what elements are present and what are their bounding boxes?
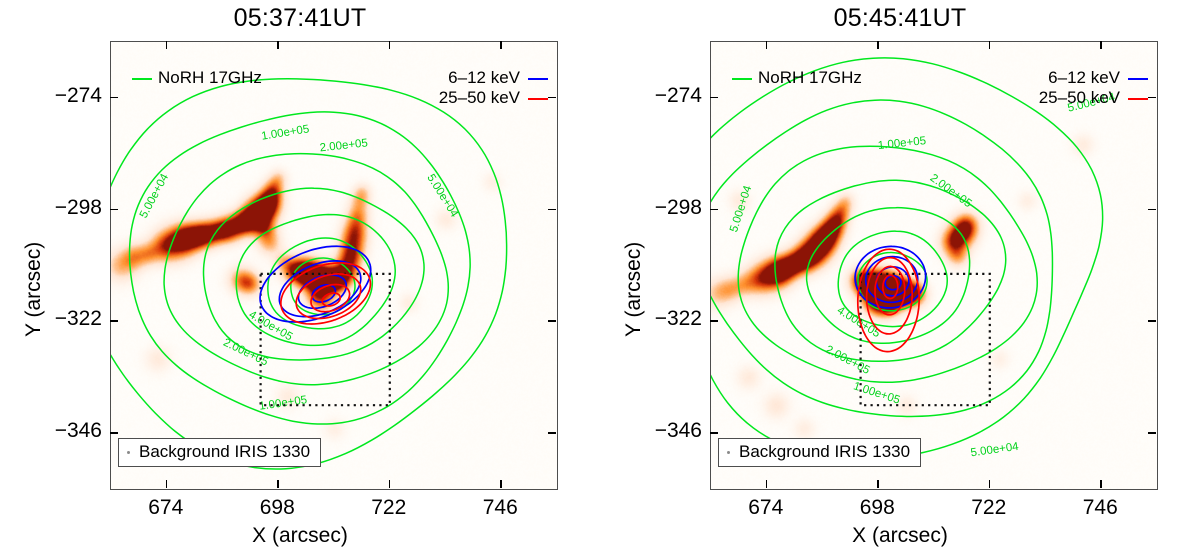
iris-fov-box: [861, 274, 990, 405]
y-tick-label: −346: [24, 419, 102, 443]
y-tick: [548, 432, 556, 433]
x-tick: [277, 480, 278, 488]
x-tick-label: 722: [367, 496, 411, 520]
y-tick-label: −298: [624, 196, 702, 220]
panel-second: 05:45:41UT5.00e+041.00e+052.00e+055.00e+…: [600, 0, 1200, 558]
background-legend-box: Background IRIS 1330: [718, 438, 921, 467]
panel-title: 05:37:41UT: [0, 4, 600, 33]
y-tick: [1148, 320, 1156, 321]
iris-box-marker-icon: [727, 451, 730, 454]
background-legend-label: Background IRIS 1330: [739, 442, 910, 462]
legend-label-norh: NoRH 17GHz: [158, 68, 262, 88]
figure-root: 05:37:41UT5.00e+041.00e+052.00e+055.00e+…: [0, 0, 1200, 558]
legend-swatch-25-50kev: [1128, 98, 1148, 100]
x-tick: [277, 41, 278, 49]
panel-title: 05:45:41UT: [600, 4, 1200, 33]
x-tick-label: 746: [1078, 496, 1122, 520]
y-tick: [1148, 97, 1156, 98]
legend-swatch-6-12kev: [1128, 78, 1148, 80]
y-tick-label: −298: [24, 196, 102, 220]
y-tick: [1148, 432, 1156, 433]
y-tick: [710, 97, 718, 98]
legend-label-norh: NoRH 17GHz: [758, 68, 862, 88]
x-axis-title: X (arcsec): [0, 524, 600, 548]
contour-level-label: 2.00e+05: [319, 137, 368, 154]
y-tick: [548, 97, 556, 98]
contour-level-label: 1.00e+05: [877, 135, 926, 152]
y-tick: [710, 320, 718, 321]
plot-area: 5.00e+041.00e+052.00e+055.00e+044.00e+05…: [710, 41, 1158, 490]
background-legend-label: Background IRIS 1330: [139, 442, 310, 462]
contour-level-label: 1.00e+05: [261, 123, 311, 142]
contour-overlay: 5.00e+041.00e+052.00e+055.00e+044.00e+05…: [111, 42, 557, 489]
x-tick: [989, 480, 990, 488]
legend-label-25-50kev: 25–50 keV: [1010, 88, 1120, 108]
legend-swatch-25-50kev: [528, 98, 548, 100]
legend-label-25-50kev: 25–50 keV: [410, 88, 520, 108]
x-tick: [166, 41, 167, 49]
legend-swatch-norh: [132, 78, 152, 80]
x-tick-label: 746: [478, 496, 522, 520]
x-tick-label: 674: [744, 496, 788, 520]
x-tick: [389, 480, 390, 488]
legend-label-6-12kev: 6–12 keV: [410, 68, 520, 88]
y-tick: [110, 97, 118, 98]
x-tick: [766, 41, 767, 49]
y-axis-title: Y (arcsec): [22, 241, 46, 336]
legend-swatch-6-12kev: [528, 78, 548, 80]
norh-contour: [130, 112, 471, 424]
contour-level-label: 5.00e+04: [970, 441, 1020, 460]
x-tick: [766, 480, 767, 488]
x-tick: [1100, 41, 1101, 49]
y-tick: [110, 209, 118, 210]
legend-swatch-norh: [732, 78, 752, 80]
x-tick-label: 674: [144, 496, 188, 520]
y-tick: [710, 209, 718, 210]
x-tick-label: 698: [855, 496, 899, 520]
x-tick-label: 698: [255, 496, 299, 520]
legend-label-6-12kev: 6–12 keV: [1010, 68, 1120, 88]
y-tick: [548, 320, 556, 321]
y-tick: [1148, 209, 1156, 210]
y-tick: [110, 320, 118, 321]
contour-overlay: 5.00e+041.00e+052.00e+055.00e+044.00e+05…: [711, 42, 1157, 489]
contour-level-label: 1.00e+05: [258, 394, 307, 413]
contour-level-label: 4.00e+05: [247, 309, 295, 344]
x-tick: [1100, 480, 1101, 488]
x-axis-title: X (arcsec): [600, 524, 1200, 548]
x-tick: [989, 41, 990, 49]
y-tick: [110, 432, 118, 433]
hxr-6-12kev-contour: [885, 276, 901, 290]
x-tick: [389, 41, 390, 49]
y-tick-label: −274: [624, 84, 702, 108]
x-tick-label: 722: [967, 496, 1011, 520]
contour-level-label: 5.00e+04: [424, 172, 460, 220]
x-tick: [500, 480, 501, 488]
background-legend-box: Background IRIS 1330: [118, 438, 321, 467]
y-tick: [710, 432, 718, 433]
y-tick-label: −274: [24, 84, 102, 108]
y-tick: [548, 209, 556, 210]
contour-level-label: 1.00e+05: [852, 380, 902, 406]
y-tick-label: −346: [624, 419, 702, 443]
norh-contour: [738, 146, 1037, 382]
contour-level-label: 2.00e+05: [928, 172, 974, 210]
plot-area: 5.00e+041.00e+052.00e+055.00e+044.00e+05…: [110, 41, 558, 490]
panel-first: 05:37:41UT5.00e+041.00e+052.00e+055.00e+…: [0, 0, 600, 558]
iris-box-marker-icon: [127, 451, 130, 454]
x-tick: [166, 480, 167, 488]
x-tick: [500, 41, 501, 49]
contour-level-label: 2.00e+05: [221, 337, 270, 369]
x-tick: [877, 41, 878, 49]
y-axis-title: Y (arcsec): [622, 241, 646, 336]
x-tick: [877, 480, 878, 488]
